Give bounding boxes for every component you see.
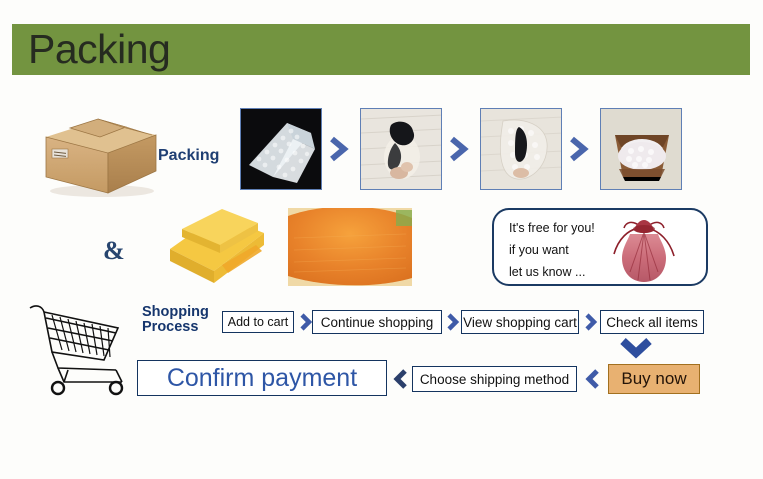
choose-shipping-method-step[interactable]: Choose shipping method [412, 366, 577, 392]
item-in-box-image [600, 108, 682, 190]
callout-line-3: let us know ... [509, 265, 585, 279]
check-all-items-step[interactable]: Check all items [600, 310, 704, 334]
shopping-process-label: Shopping Process [142, 305, 209, 335]
chevron-right-icon [326, 136, 352, 162]
page-title: Packing [28, 26, 170, 73]
chevron-left-icon [391, 369, 411, 389]
red-organza-gift-pouch-image [604, 214, 684, 286]
yellow-padded-envelopes-image [152, 205, 284, 290]
chevron-down-icon [620, 336, 652, 360]
chevron-left-icon [583, 369, 603, 389]
continue-shopping-step[interactable]: Continue shopping [312, 310, 442, 334]
item-wrapped-fully-image [480, 108, 562, 190]
buy-now-button[interactable]: Buy now [608, 364, 700, 394]
view-shopping-cart-step[interactable]: View shopping cart [461, 310, 579, 334]
cardboard-box-image [40, 105, 160, 197]
chevron-right-icon [582, 313, 600, 331]
confirm-payment-step[interactable]: Confirm payment [137, 360, 387, 396]
callout-line-2: if you want [509, 243, 569, 257]
shopping-process-label-line1: Shopping [142, 305, 209, 320]
add-to-cart-step[interactable]: Add to cart [222, 311, 294, 333]
shopping-process-label-line2: Process [142, 320, 209, 335]
callout-line-1: It's free for you! [509, 221, 595, 235]
chevron-right-icon [446, 136, 472, 162]
ampersand-label: & [103, 236, 125, 266]
item-wrapped-partially-image [360, 108, 442, 190]
packing-infographic: Packing Packing [0, 0, 763, 479]
shopping-cart-icon [18, 298, 136, 396]
chevron-right-icon [444, 313, 462, 331]
packing-label: Packing [158, 147, 219, 165]
bubble-wrap-image [240, 108, 322, 190]
free-gift-callout: It's free for you! if you want let us kn… [492, 208, 708, 286]
chevron-right-icon [566, 136, 592, 162]
orange-bubble-mailer-closeup-image [288, 208, 412, 286]
